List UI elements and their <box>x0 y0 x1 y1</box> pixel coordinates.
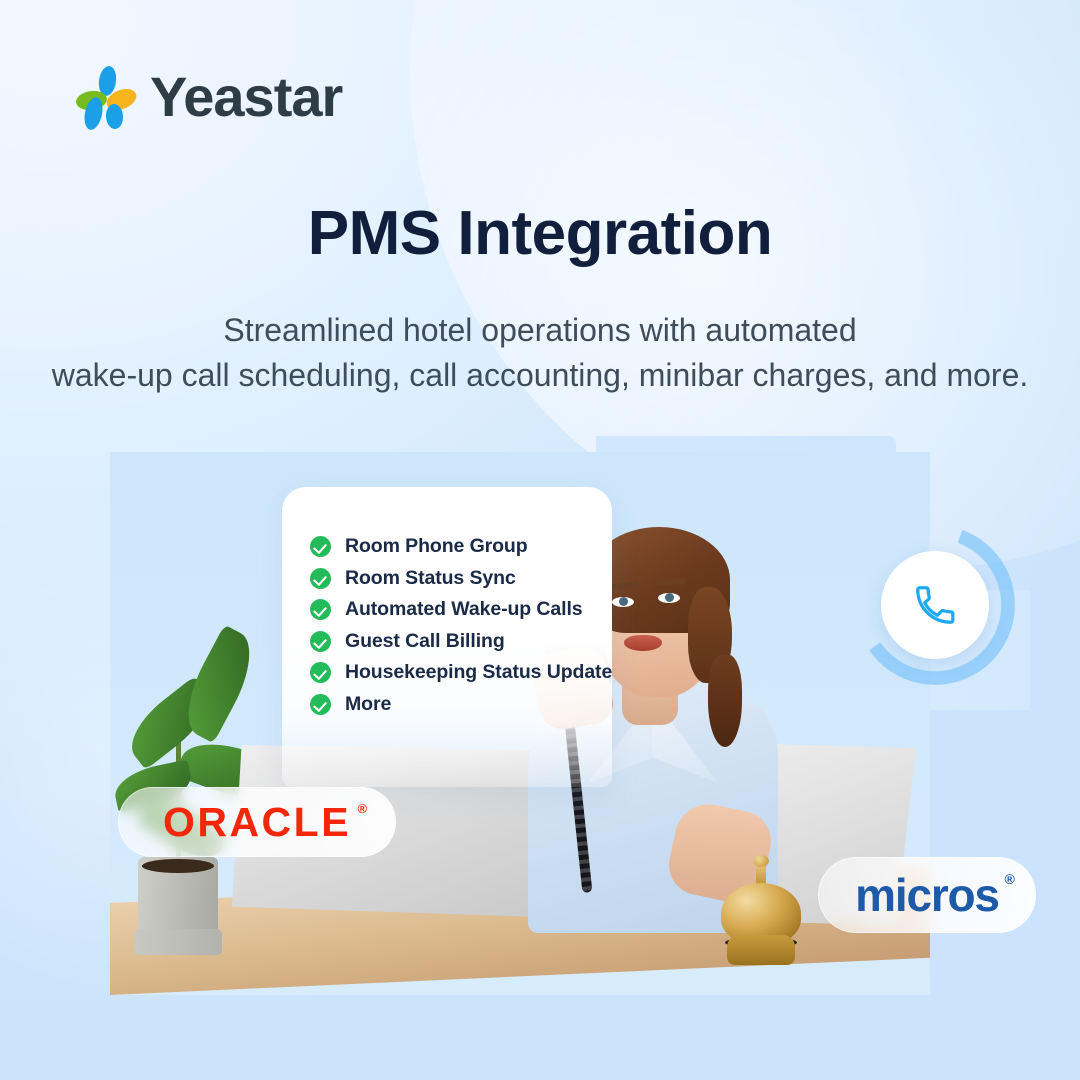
phone-badge-circle[interactable] <box>881 551 989 659</box>
ponytail <box>708 655 742 747</box>
list-item[interactable]: Housekeeping Status Update <box>310 657 612 688</box>
subtitle-line-1: Streamlined hotel operations with automa… <box>0 308 1080 353</box>
service-bell <box>715 857 807 965</box>
phone-handset-icon <box>912 582 958 628</box>
oracle-name: ORACLE <box>163 799 351 845</box>
pot-soil <box>142 859 214 873</box>
phone-badge <box>855 525 1015 685</box>
check-circle-icon <box>310 662 331 683</box>
feature-list-card: Room Phone Group Room Status Sync Automa… <box>282 487 612 787</box>
check-circle-icon <box>310 568 331 589</box>
check-circle-icon <box>310 599 331 620</box>
micros-name: micros <box>855 869 999 921</box>
poster-canvas: Yeastar PMS Integration Streamlined hote… <box>0 0 1080 1080</box>
partner-badge-micros[interactable]: micros® <box>818 857 1036 933</box>
check-circle-icon <box>310 631 331 652</box>
feature-label: Room Phone Group <box>345 535 528 558</box>
oracle-wordmark: ORACLE® <box>163 799 351 846</box>
bell-base <box>727 935 795 965</box>
feature-label: Housekeeping Status Update <box>345 661 612 684</box>
eye <box>612 597 634 607</box>
partner-badge-oracle[interactable]: ORACLE® <box>118 787 396 857</box>
feature-list: Room Phone Group Room Status Sync Automa… <box>310 531 612 720</box>
eye <box>658 593 680 603</box>
list-item[interactable]: Room Phone Group <box>310 531 612 562</box>
list-item[interactable]: Guest Call Billing <box>310 626 612 657</box>
page-subtitle: Streamlined hotel operations with automa… <box>0 308 1080 399</box>
registered-trademark-icon: ® <box>1005 871 1015 887</box>
list-item[interactable]: Room Status Sync <box>310 563 612 594</box>
yeastar-logo[interactable]: Yeastar <box>78 64 342 129</box>
feature-label: Room Status Sync <box>345 567 516 590</box>
registered-trademark-icon: ® <box>357 801 367 816</box>
feature-label: Automated Wake-up Calls <box>345 598 583 621</box>
micros-wordmark: micros® <box>855 868 999 922</box>
subtitle-line-2: wake-up call scheduling, call accounting… <box>0 353 1080 398</box>
list-item[interactable]: More <box>310 689 612 720</box>
yeastar-pinwheel-icon <box>78 66 136 128</box>
feature-label: More <box>345 693 391 716</box>
yeastar-wordmark: Yeastar <box>150 64 342 129</box>
plant-pot <box>138 857 218 953</box>
lips <box>624 635 662 651</box>
list-item[interactable]: Automated Wake-up Calls <box>310 594 612 625</box>
check-circle-icon <box>310 694 331 715</box>
check-circle-icon <box>310 536 331 557</box>
page-title: PMS Integration <box>0 198 1080 269</box>
feature-label: Guest Call Billing <box>345 630 505 653</box>
